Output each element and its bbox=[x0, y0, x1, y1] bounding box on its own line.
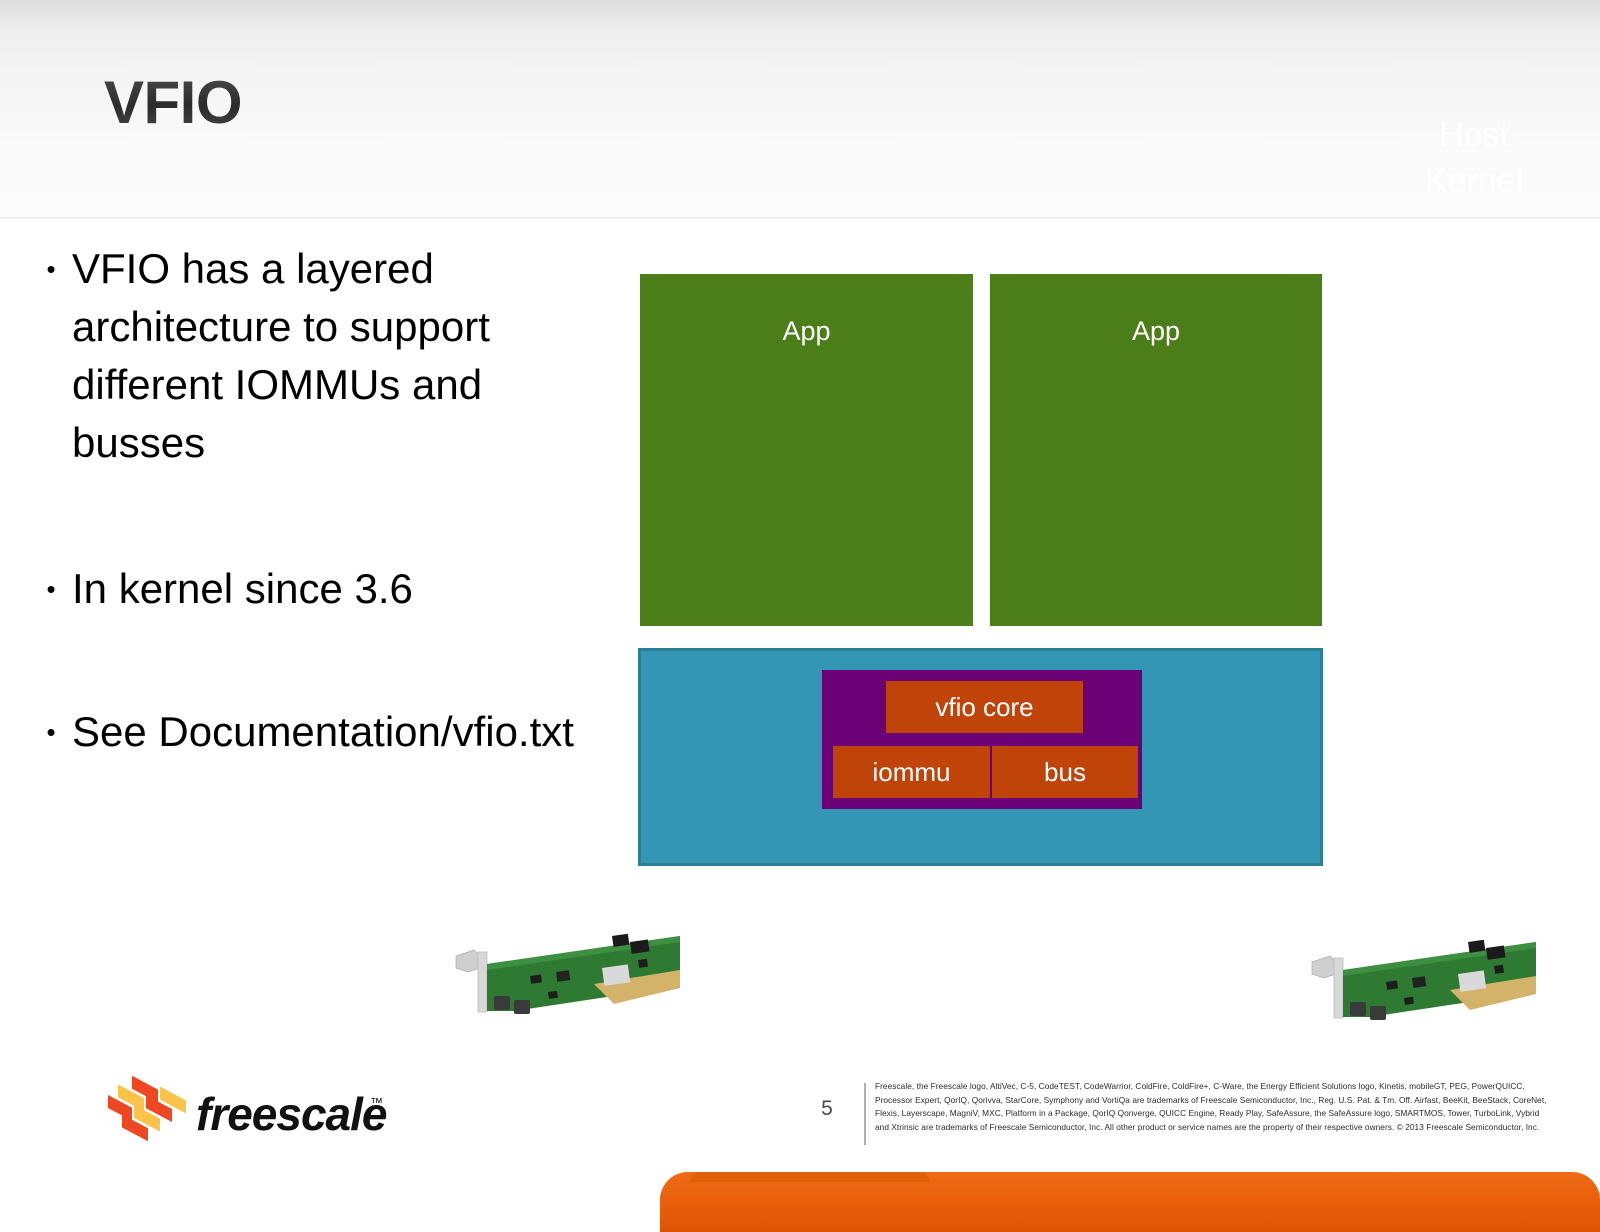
diagram-module-bus: bus bbox=[992, 746, 1138, 798]
freescale-wordmark: freescale bbox=[196, 1087, 387, 1141]
list-item: • See Documentation/vfio.txt bbox=[30, 703, 610, 761]
list-item: • In kernel since 3.6 bbox=[30, 560, 610, 618]
bullet-list: • VFIO has a layered architecture to sup… bbox=[30, 240, 610, 761]
page-title: VFIO bbox=[104, 68, 242, 137]
diagram-app-box-2: App bbox=[990, 274, 1322, 626]
diagram-app-label: App bbox=[990, 316, 1322, 347]
bullet-marker-icon: • bbox=[30, 560, 72, 618]
freescale-logo: freescale ™ bbox=[108, 1065, 398, 1151]
legal-disclaimer: Freescale, the Freescale logo, AltiVec, … bbox=[875, 1080, 1575, 1134]
legal-line: Flexis, Layerscape, MagniV, MXC, Platfor… bbox=[875, 1107, 1575, 1121]
legal-divider bbox=[864, 1083, 866, 1145]
diagram-app-label: App bbox=[640, 316, 973, 347]
bullet-text: VFIO has a layered architecture to suppo… bbox=[72, 240, 610, 472]
legal-line: Processor Expert, QorIQ, Qorivva, StarCo… bbox=[875, 1094, 1575, 1108]
diagram-app-box-1: App bbox=[640, 274, 973, 626]
bottom-accent-bar-highlight bbox=[690, 1172, 930, 1182]
diagram-module-iommu: iommu bbox=[833, 746, 990, 798]
bullet-text: In kernel since 3.6 bbox=[72, 560, 413, 618]
pci-card-image-right bbox=[1300, 918, 1540, 1020]
trademark-icon: ™ bbox=[370, 1095, 383, 1110]
diagram-host-kernel-label: HostKernel bbox=[1384, 112, 1564, 204]
bullet-text: See Documentation/vfio.txt bbox=[72, 703, 574, 761]
legal-line: Freescale, the Freescale logo, AltiVec, … bbox=[875, 1080, 1575, 1094]
bullet-marker-icon: • bbox=[30, 240, 72, 298]
freescale-diamond-icon bbox=[108, 1065, 194, 1145]
diagram-module-vfio-core: vfio core bbox=[886, 681, 1083, 733]
list-item: • VFIO has a layered architecture to sup… bbox=[30, 240, 610, 472]
header-divider bbox=[0, 217, 1600, 219]
legal-line: and Xtrinsic are trademarks of Freescale… bbox=[875, 1121, 1575, 1135]
page-number: 5 bbox=[812, 1097, 842, 1121]
bullet-marker-icon: • bbox=[30, 703, 72, 761]
pci-card-image-left bbox=[444, 912, 684, 1014]
